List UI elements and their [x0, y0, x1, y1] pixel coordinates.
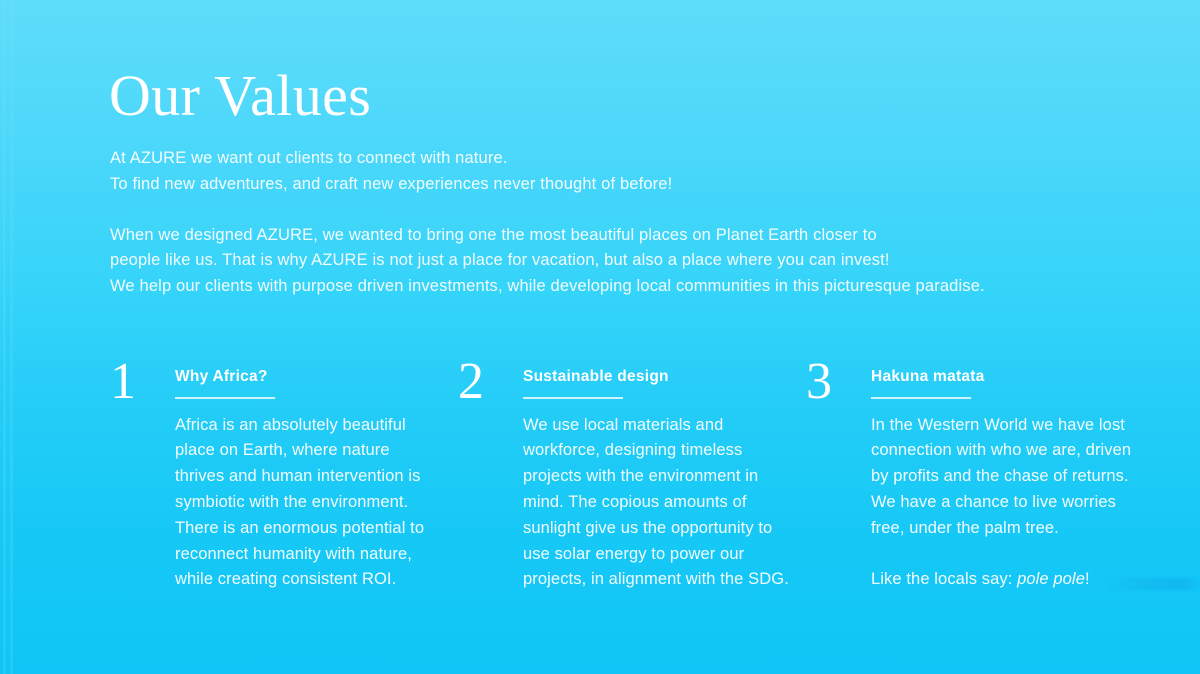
value-body-3-paragraph: In the Western World we have lost connec…: [871, 413, 1139, 542]
intro-paragraph-1: At AZURE we want out clients to connect …: [110, 146, 1090, 197]
intro-p1-line-1: At AZURE we want out clients to connect …: [110, 149, 508, 167]
intro-paragraph-2: When we designed AZURE, we wanted to bri…: [110, 223, 1090, 300]
intro-text-block: At AZURE we want out clients to connect …: [110, 146, 1090, 299]
value-content-2: Sustainable design We use local material…: [523, 358, 806, 593]
values-columns: 1 Why Africa? Africa is an absolutely be…: [110, 358, 1160, 593]
value-underline-rule-3: [871, 397, 971, 399]
intro-p1-line-2: To find new adventures, and craft new ex…: [110, 175, 672, 193]
value-body-1: Africa is an absolutely beautiful place …: [175, 413, 443, 594]
saying-prefix: Like the locals say:: [871, 570, 1017, 588]
value-body-3-saying: Like the locals say: pole pole!: [871, 567, 1139, 593]
value-heading-2: Sustainable design: [523, 368, 806, 386]
intro-p2-line-3: We help our clients with purpose driven …: [110, 277, 985, 295]
value-column-1: 1 Why Africa? Africa is an absolutely be…: [110, 358, 458, 593]
intro-p2-line-2: people like us. That is why AZURE is not…: [110, 251, 890, 269]
value-column-2: 2 Sustainable design We use local materi…: [458, 358, 806, 593]
slide-root: Our Values At AZURE we want out clients …: [0, 0, 1200, 674]
value-content-3: Hakuna matata In the Western World we ha…: [871, 358, 1154, 593]
value-heading-3: Hakuna matata: [871, 368, 1154, 386]
value-underline-rule-2: [523, 397, 623, 399]
value-body-2: We use local materials and workforce, de…: [523, 413, 791, 594]
value-underline-rule-1: [175, 397, 275, 399]
value-heading-1: Why Africa?: [175, 368, 458, 386]
value-body-3: In the Western World we have lost connec…: [871, 413, 1139, 593]
left-edge-banding: [0, 0, 22, 674]
saying-italic-phrase: pole pole: [1017, 570, 1085, 588]
page-title: Our Values: [109, 66, 371, 127]
saying-suffix: !: [1085, 570, 1090, 588]
value-number-2: 2: [458, 354, 523, 410]
value-number-1: 1: [110, 354, 175, 410]
value-body-2-paragraph: We use local materials and workforce, de…: [523, 413, 791, 594]
value-body-1-paragraph: Africa is an absolutely beautiful place …: [175, 413, 443, 594]
value-content-1: Why Africa? Africa is an absolutely beau…: [175, 358, 458, 593]
value-number-3: 3: [806, 354, 871, 410]
value-column-3: 3 Hakuna matata In the Western World we …: [806, 358, 1154, 593]
intro-p2-line-1: When we designed AZURE, we wanted to bri…: [110, 226, 877, 244]
